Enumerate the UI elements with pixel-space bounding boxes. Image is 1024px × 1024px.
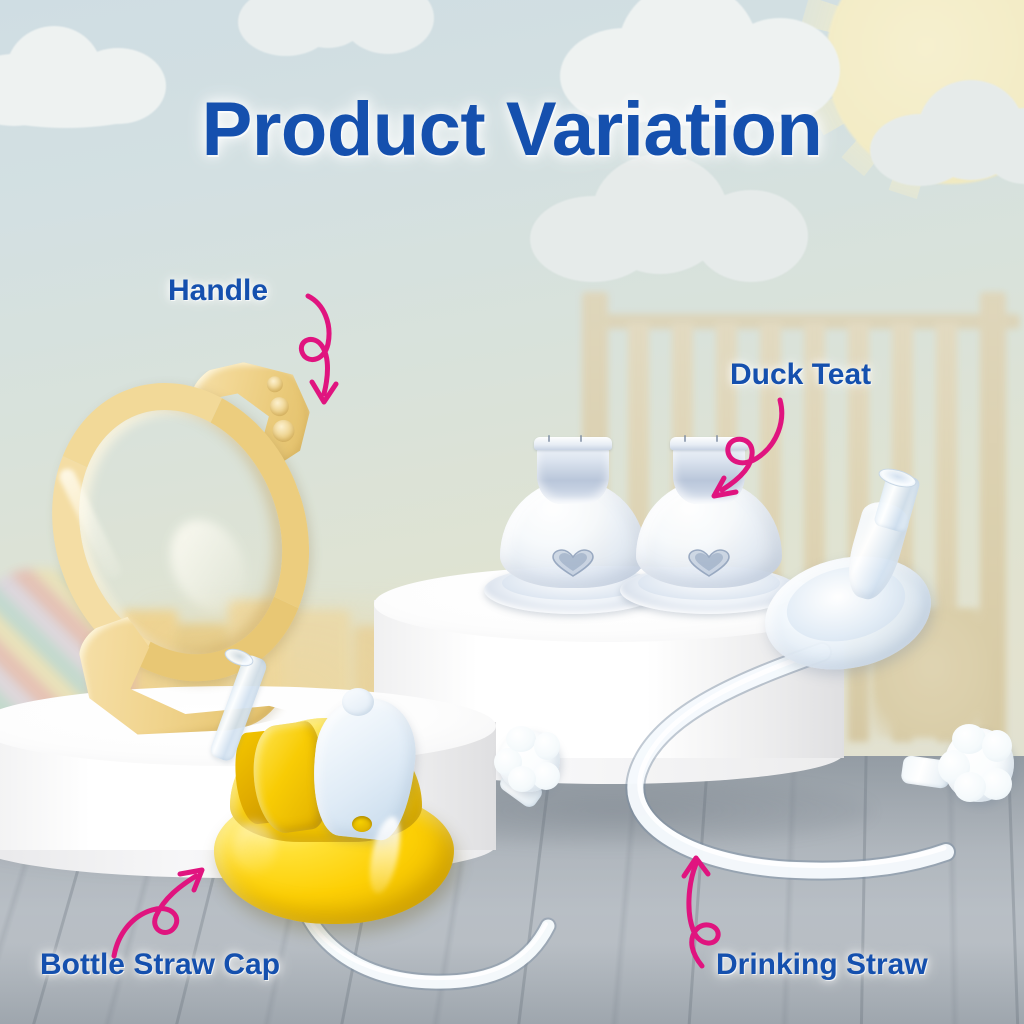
callout-label-handle: Handle [168,274,268,308]
curly-arrow-down-right-icon [276,290,366,416]
callout-label-drinking-straw: Drinking Straw [716,948,928,982]
page-title: Product Variation [0,86,1024,173]
heart-valve-icon [686,548,732,578]
straw-weighted-ball [936,724,1016,808]
infographic-canvas: Product Variation Handle Duck Teat Bottl… [0,0,1024,1024]
callout-label-duck-teat: Duck Teat [730,358,871,392]
heart-valve-icon [550,548,596,578]
yellow-flip-top-straw-cap [196,640,516,940]
curly-arrow-down-left-icon [694,396,804,516]
cloud-icon [238,0,448,64]
curly-arrow-up-right-icon [110,858,206,962]
curly-arrow-up-icon [660,856,746,972]
cap-straw-weighted-ball [494,728,566,804]
